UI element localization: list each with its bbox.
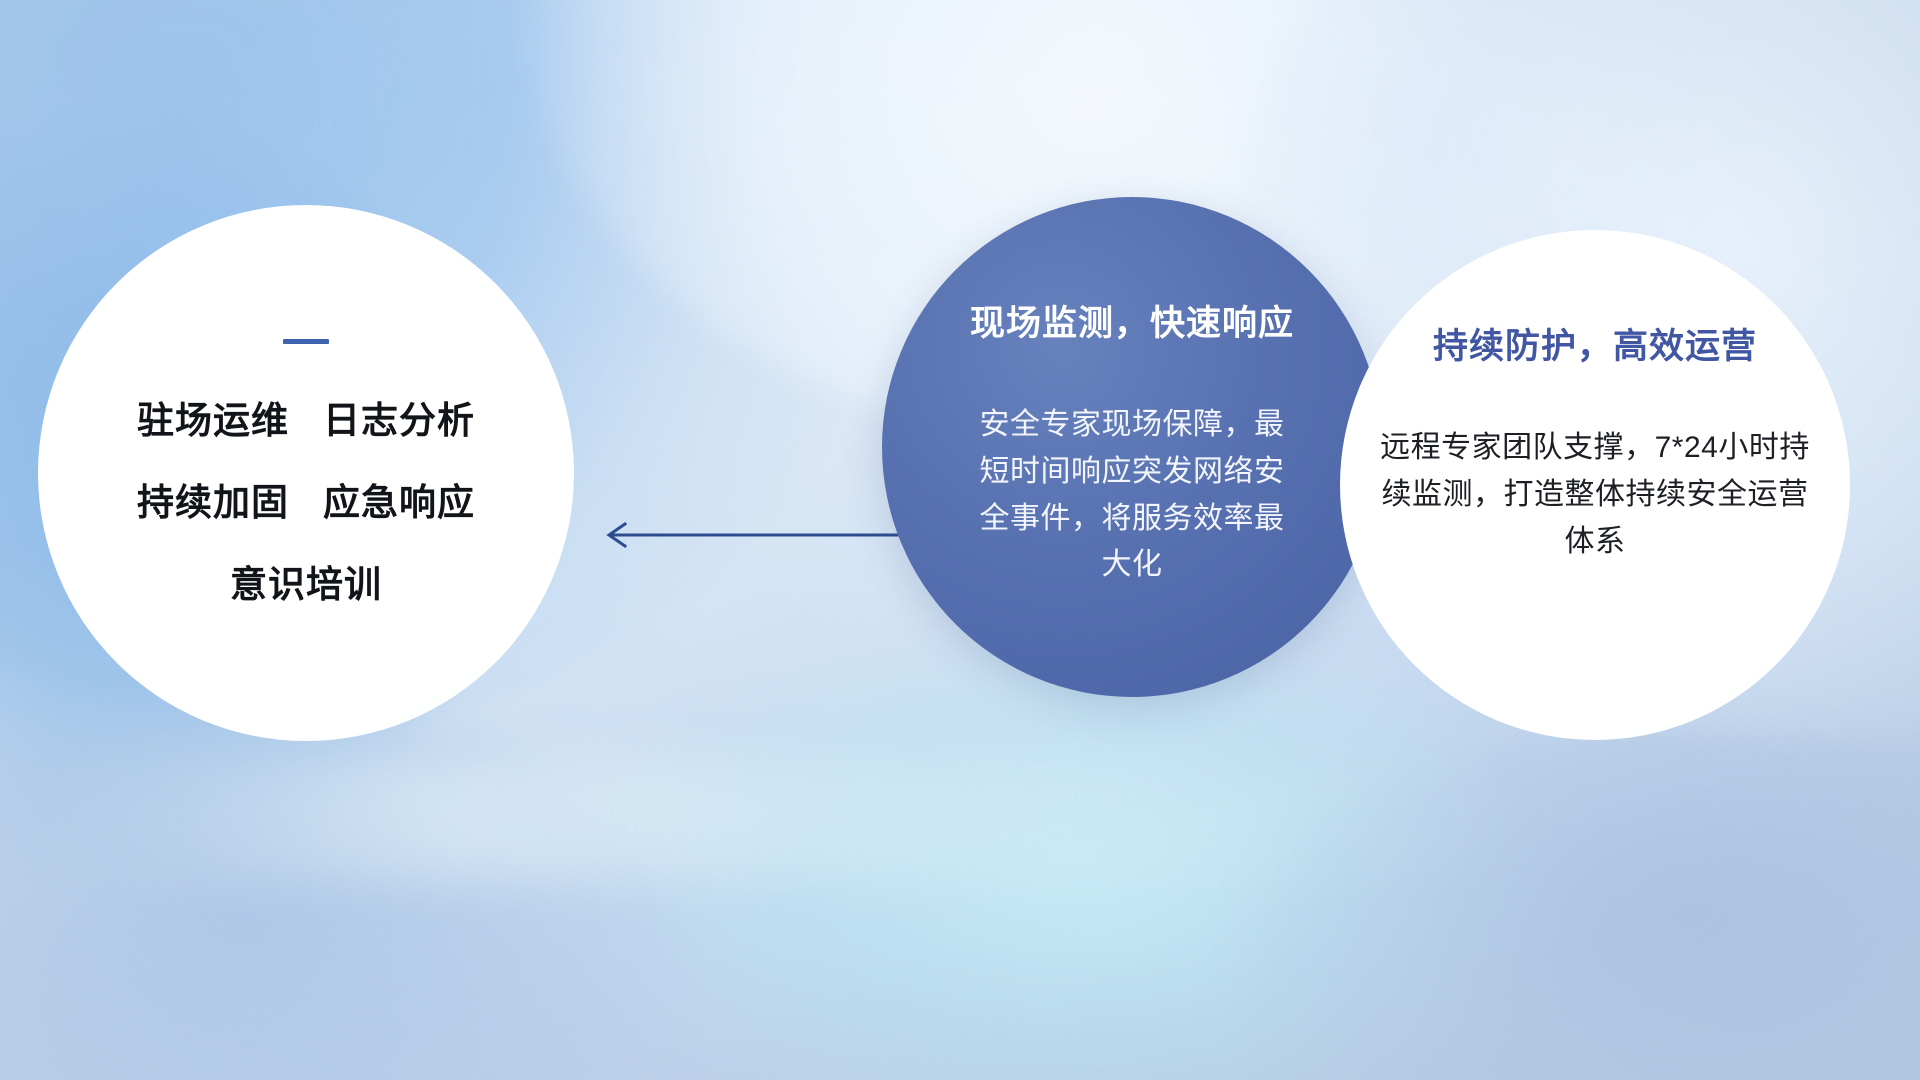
capability-item: 持续加固 [137,472,289,526]
capability-circle-right: 持续防护，高效运营 远程专家团队支撑，7*24小时持续监测，打造整体持续安全运营… [1340,230,1850,740]
capability-row: 驻场运维 日志分析 [137,390,475,444]
capability-item: 日志分析 [323,390,475,444]
capability-item: 应急响应 [323,472,475,526]
right-circle-title: 持续防护，高效运营 [1433,318,1757,369]
capability-circle-middle: 现场监测，快速响应 安全专家现场保障，最短时间响应突发网络安全事件，将服务效率最… [882,197,1382,697]
divider-dash-icon [283,339,329,344]
capability-row: 持续加固 应急响应 [137,472,475,526]
capability-item: 驻场运维 [137,390,289,444]
middle-circle-body: 安全专家现场保障，最短时间响应突发网络安全事件，将服务效率最大化 [972,402,1292,589]
right-circle-body: 远程专家团队支撑，7*24小时持续监测，打造整体持续安全运营体系 [1380,425,1810,565]
slide-canvas: 驻场运维 日志分析 持续加固 应急响应 意识培训 现场监测，快速响应 安全专家现… [0,0,1920,1080]
capability-item: 意识培训 [230,554,382,608]
capability-circle-left: 驻场运维 日志分析 持续加固 应急响应 意识培训 [38,205,574,741]
middle-circle-title: 现场监测，快速响应 [970,295,1294,346]
capability-row: 意识培训 [230,554,382,608]
capability-list: 驻场运维 日志分析 持续加固 应急响应 意识培训 [137,390,475,608]
left-arrow-icon [595,515,905,555]
